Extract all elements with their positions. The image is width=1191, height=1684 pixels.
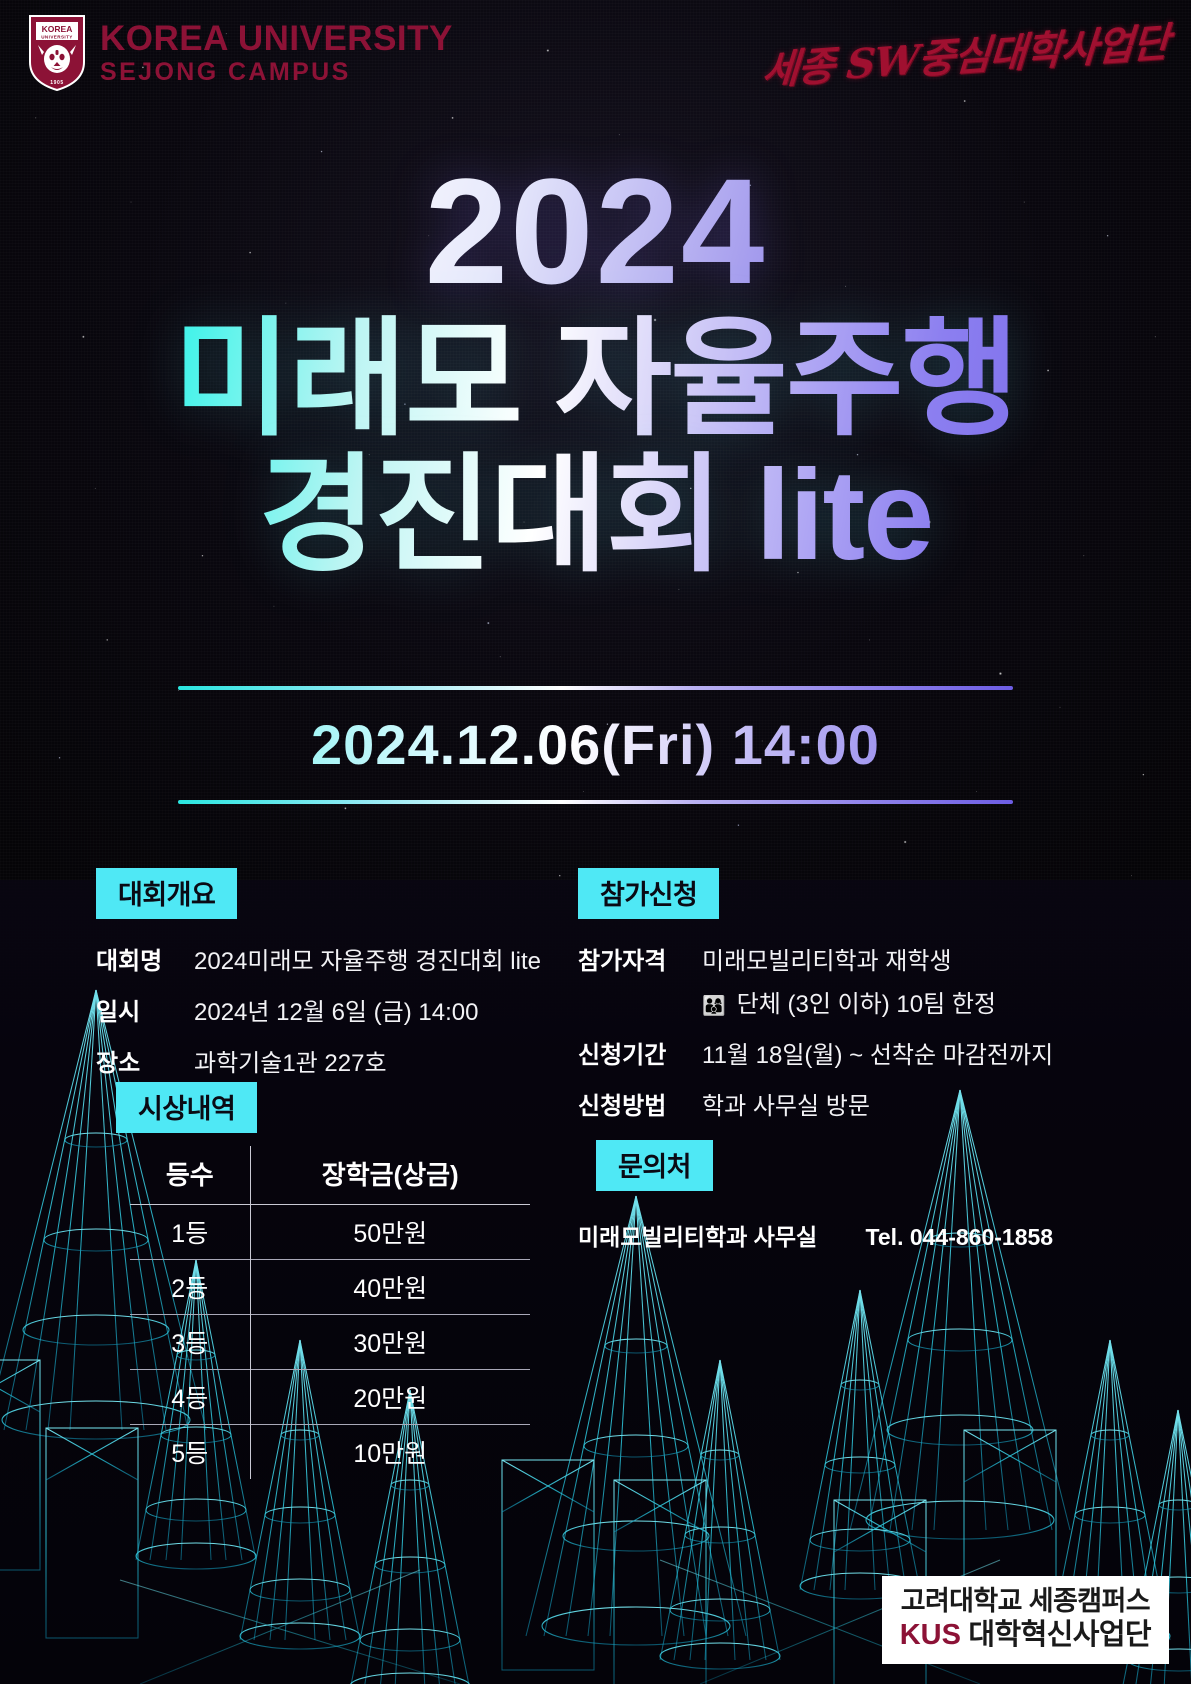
svg-text:UNIVERSITY: UNIVERSITY	[41, 35, 73, 40]
awards-prize-4: 20만원	[250, 1370, 530, 1425]
kus-logo-mark: KUS	[900, 1619, 961, 1651]
korea-university-logo: KOREA UNIVERSITY 1905 KOREA UNIVERSITY S…	[28, 14, 453, 92]
application-key-eligibility: 참가자격	[578, 941, 678, 976]
kus-footer-logo: 고려대학교 세종캠퍼스 KUS 대학혁신사업단	[882, 1576, 1169, 1664]
application-badge: 참가신청	[578, 868, 719, 919]
awards-rank-3: 3등	[130, 1315, 250, 1370]
awards-table-header-row: 등수 장학금(상금)	[130, 1146, 530, 1205]
poster-canvas: KOREA UNIVERSITY 1905 KOREA UNIVERSITY S…	[0, 0, 1191, 1684]
awards-rank-4: 4등	[130, 1370, 250, 1425]
application-section: 참가신청 참가자격 미래모빌리티학과 재학생 👨‍👩‍👦단체 (3인 이하) 1…	[578, 868, 1098, 1137]
application-key-method: 신청방법	[578, 1086, 678, 1121]
awards-prize-2: 40만원	[250, 1260, 530, 1315]
application-row-method: 신청방법 학과 사무실 방문	[578, 1086, 1098, 1121]
ku-logo-line2: SEJONG CAMPUS	[100, 60, 453, 85]
sw-program-logo-text: 세종 SW중심대학사업단	[761, 10, 1171, 97]
overview-row-name: 대회명 2024미래모 자율주행 경진대회 lite	[96, 941, 566, 976]
ku-logo-line1: KOREA UNIVERSITY	[100, 21, 453, 56]
overview-rows: 대회명 2024미래모 자율주행 경진대회 lite 일시 2024년 12월 …	[96, 941, 566, 1078]
overview-value-venue: 과학기술1관 227호	[194, 1043, 387, 1078]
application-eligibility-main: 미래모빌리티학과 재학생	[702, 948, 952, 975]
hero-title-line2: 경진대회 lite	[0, 451, 1191, 582]
awards-prize-3: 30만원	[250, 1315, 530, 1370]
awards-prize-5: 10만원	[250, 1425, 530, 1480]
application-row-eligibility: 참가자격 미래모빌리티학과 재학생 👨‍👩‍👦단체 (3인 이하) 10팀 한정	[578, 941, 1098, 1019]
overview-row-datetime: 일시 2024년 12월 6일 (금) 14:00	[96, 992, 566, 1027]
contact-section-header: 문의처	[596, 1140, 713, 1191]
overview-key-name: 대회명	[96, 941, 180, 976]
awards-section-header: 시상내역	[116, 1082, 257, 1133]
people-group-icon: 👨‍👩‍👦	[702, 996, 729, 1017]
overview-key-datetime: 일시	[96, 992, 180, 1027]
svg-text:1905: 1905	[50, 80, 64, 86]
hero-date-time: 2024.12.06(Fri) 14:00	[0, 712, 1191, 777]
contact-badge: 문의처	[596, 1140, 713, 1191]
kus-logo-line2-rest: 대학혁신사업단	[961, 1619, 1151, 1651]
overview-value-name: 2024미래모 자율주행 경진대회 lite	[194, 941, 541, 976]
hero-year: 2024	[0, 160, 1191, 303]
svg-text:KOREA: KOREA	[42, 24, 73, 34]
ku-shield-icon: KOREA UNIVERSITY 1905	[28, 14, 86, 92]
contact-details: 미래모빌리티학과 사무실 Tel. 044-860-1858	[578, 1218, 1053, 1252]
overview-row-venue: 장소 과학기술1관 227호	[96, 1043, 566, 1078]
overview-key-venue: 장소	[96, 1043, 180, 1078]
contact-phone[interactable]: Tel. 044-860-1858	[866, 1224, 1054, 1250]
table-row: 5등 10만원	[130, 1425, 530, 1480]
awards-badge: 시상내역	[116, 1082, 257, 1133]
overview-value-datetime: 2024년 12월 6일 (금) 14:00	[194, 992, 478, 1027]
application-rows: 참가자격 미래모빌리티학과 재학생 👨‍👩‍👦단체 (3인 이하) 10팀 한정…	[578, 941, 1098, 1121]
divider-rule-bottom	[178, 800, 1013, 804]
awards-col-rank: 등수	[130, 1146, 250, 1205]
application-value-period: 11월 18일(월) ~ 선착순 마감전까지	[702, 1035, 1053, 1070]
hero-title-line1: 미래모 자율주행	[0, 315, 1191, 446]
application-row-period: 신청기간 11월 18일(월) ~ 선착순 마감전까지	[578, 1035, 1098, 1070]
sw-program-logo: 세종 SW중심대학사업단	[804, 14, 1169, 92]
overview-badge: 대회개요	[96, 868, 237, 919]
awards-rank-1: 1등	[130, 1205, 250, 1260]
divider-rule-top	[178, 686, 1013, 690]
overview-section: 대회개요 대회명 2024미래모 자율주행 경진대회 lite 일시 2024년…	[96, 868, 566, 1094]
awards-table: 등수 장학금(상금) 1등 50만원 2등 40만원 3등 30만원 4등 20…	[130, 1146, 530, 1479]
contact-office: 미래모빌리티학과 사무실	[578, 1224, 817, 1250]
awards-rank-2: 2등	[130, 1260, 250, 1315]
kus-logo-line2: KUS 대학혁신사업단	[900, 1618, 1151, 1652]
application-value-eligibility: 미래모빌리티학과 재학생 👨‍👩‍👦단체 (3인 이하) 10팀 한정	[702, 941, 996, 1019]
table-row: 2등 40만원	[130, 1260, 530, 1315]
kus-logo-line1: 고려대학교 세종캠퍼스	[900, 1586, 1151, 1618]
application-eligibility-sub-text: 단체 (3인 이하) 10팀 한정	[737, 991, 996, 1018]
table-row: 1등 50만원	[130, 1205, 530, 1260]
hero-title-block: 2024 미래모 자율주행 경진대회 lite	[0, 160, 1191, 582]
table-row: 3등 30만원	[130, 1315, 530, 1370]
awards-prize-1: 50만원	[250, 1205, 530, 1260]
awards-col-prize: 장학금(상금)	[250, 1146, 530, 1205]
table-row: 4등 20만원	[130, 1370, 530, 1425]
application-value-method: 학과 사무실 방문	[702, 1086, 870, 1121]
application-eligibility-sub: 👨‍👩‍👦단체 (3인 이하) 10팀 한정	[702, 984, 996, 1019]
application-key-period: 신청기간	[578, 1035, 678, 1070]
awards-rank-5: 5등	[130, 1425, 250, 1480]
